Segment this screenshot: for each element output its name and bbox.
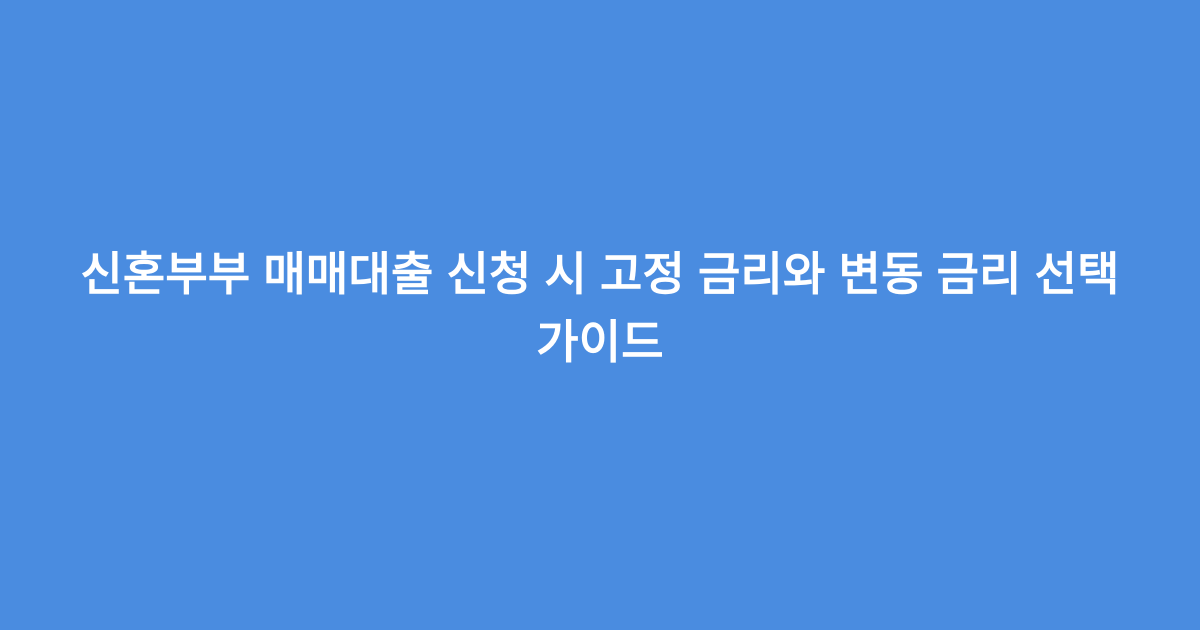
title-block: 신혼부부 매매대출 신청 시 고정 금리와 변동 금리 선택 가이드 (65, 240, 1135, 376)
page-title: 신혼부부 매매대출 신청 시 고정 금리와 변동 금리 선택 가이드 (75, 240, 1125, 376)
share-card: 신혼부부 매매대출 신청 시 고정 금리와 변동 금리 선택 가이드 (0, 0, 1200, 630)
